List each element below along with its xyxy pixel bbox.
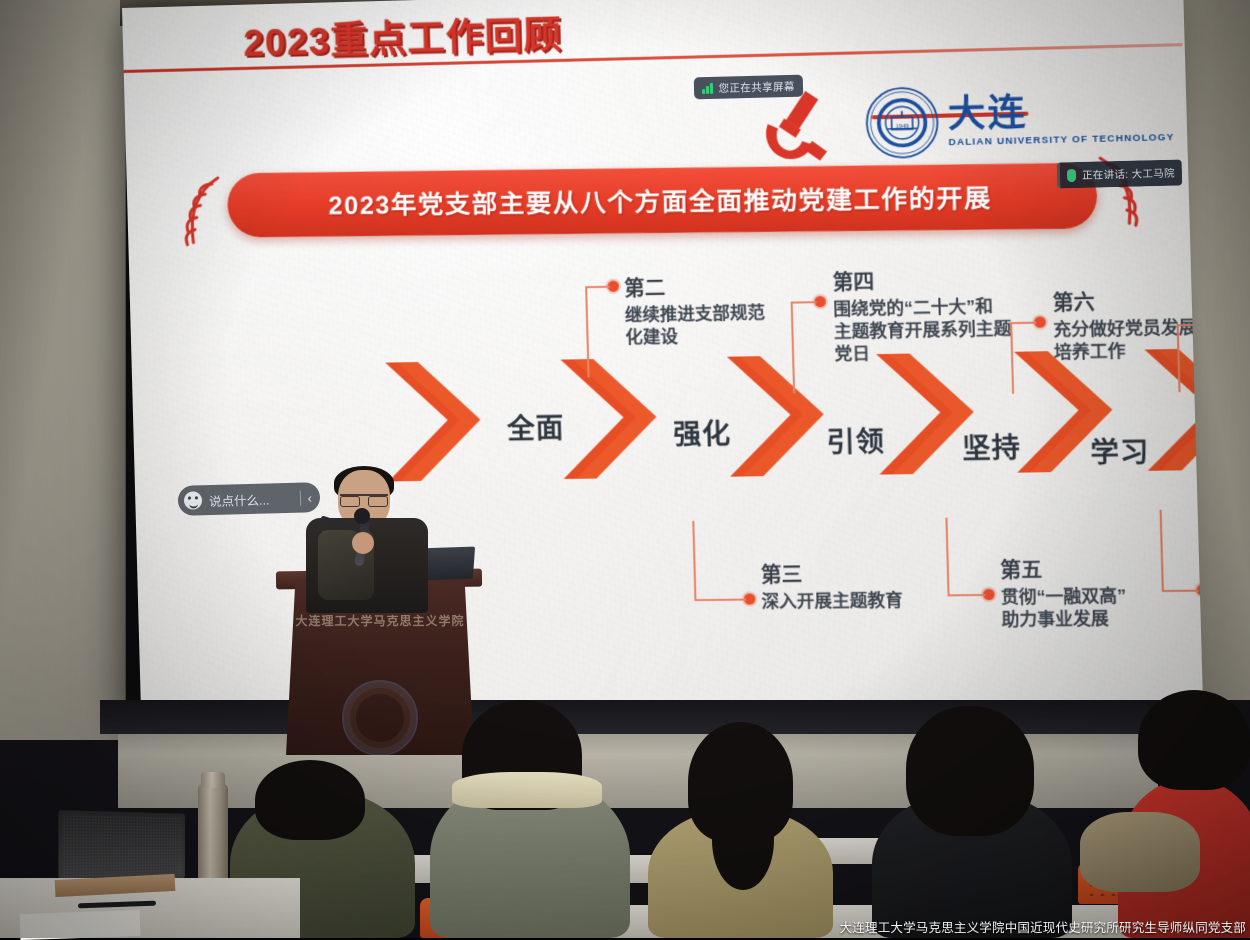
callout-fifth: 第五 贯彻“一融双高” 助力事业发展 [1000,552,1186,632]
screen-share-status-badge[interactable]: 您正在共享屏幕 [694,75,803,100]
svg-text:1949: 1949 [895,123,909,130]
callout-head: 第五 [1000,552,1185,584]
callout-stem-third [692,521,696,601]
screen-share-status-text: 您正在共享屏幕 [718,78,795,95]
flow-chevron-2 [556,354,662,487]
podium-seal-icon [342,680,418,756]
active-speaker-text: 正在讲话: 大工马院 [1082,165,1175,182]
chat-input-bar[interactable]: 说点什么... ‹ [178,482,321,516]
presenter-hand [352,532,374,554]
flow-label-4: 坚持 [962,425,1022,466]
podium-text: 大连理工大学马克思主义学院 [286,612,474,629]
audience-hair-1 [255,760,365,840]
chat-input[interactable]: 说点什么... [209,488,293,509]
smiley-face-icon[interactable] [184,491,202,509]
audience-ponytail-3 [712,790,774,890]
audience-fur-collar-2 [452,772,602,808]
audience-hair-5 [1138,690,1250,790]
presentation-slide: 2023重点工作回顾 194 [122,0,1203,726]
callout-second: 第二 继续推进支部规范 化建设 [624,269,807,349]
signal-bars-icon [702,82,713,93]
conference-room-photo: 2023重点工作回顾 194 [0,0,1250,938]
flow-chevron-3 [723,351,830,485]
callout-body: 继续推进支部规范 化建设 [625,301,807,348]
audience-fur-collar-5 [1080,812,1200,892]
callout-head: 第二 [624,269,805,302]
callout-connector-second [587,286,610,288]
callout-connector-fourth [792,301,817,304]
flow-label-1: 全面 [507,406,565,446]
chevron-left-icon[interactable]: ‹ [307,490,314,505]
microphone-icon [1067,169,1076,182]
audience-hair-4 [906,706,1034,836]
presenter-glasses [340,494,388,503]
banner-wrap: 2023年党支部主要从八个方面全面推动党建工作的开展 [172,155,1151,259]
paper-sheet [20,910,141,940]
active-speaker-badge[interactable]: 正在讲话: 大工马院 [1057,159,1182,188]
slide-banner: 2023年党支部主要从八个方面全面推动党建工作的开展 [227,163,1097,238]
callout-head: 第四 [832,262,1042,296]
callout-connector-seventh [1162,590,1199,592]
flow-label-3: 引领 [826,419,885,460]
presenter [300,470,430,610]
cpc-hammer-sickle-icon [758,86,851,164]
dut-wordmark: 大连 DALIAN UNIVERSITY OF TECHNOLOGY [947,90,1174,147]
dut-name-cn: 大连 [947,90,1174,132]
flow-label-2: 强化 [673,412,732,452]
chat-divider [299,490,300,505]
callout-connector-third [694,599,746,602]
stage-monitor-speaker [58,810,184,882]
callout-body: 贯彻“一融双高” 助力事业发展 [1001,585,1186,632]
emblem-row: 1949 大连 DALIAN UNIVERSITY OF TECHNOLOGY [758,78,1175,163]
dut-seal-icon: 1949 [864,85,941,160]
dut-name-en: DALIAN UNIVERSITY OF TECHNOLOGY [948,133,1174,148]
photo-caption: 大连理工大学马克思主义学院中国近现代史研究所研究生导师纵同党支部 [840,917,1246,936]
slide-title: 2023重点工作回顾 [242,4,562,67]
flow-label-5: 学习 [1090,430,1150,471]
callout-head: 第六 [1052,283,1203,316]
callout-connector-fifth [947,594,985,596]
laurel-left-icon [172,174,234,247]
dut-logo: 1949 大连 DALIAN UNIVERSITY OF TECHNOLOGY [864,79,1175,160]
microphone-head [354,508,370,524]
slide-banner-text: 2023年党支部主要从八个方面全面推动党建工作的开展 [328,178,992,222]
